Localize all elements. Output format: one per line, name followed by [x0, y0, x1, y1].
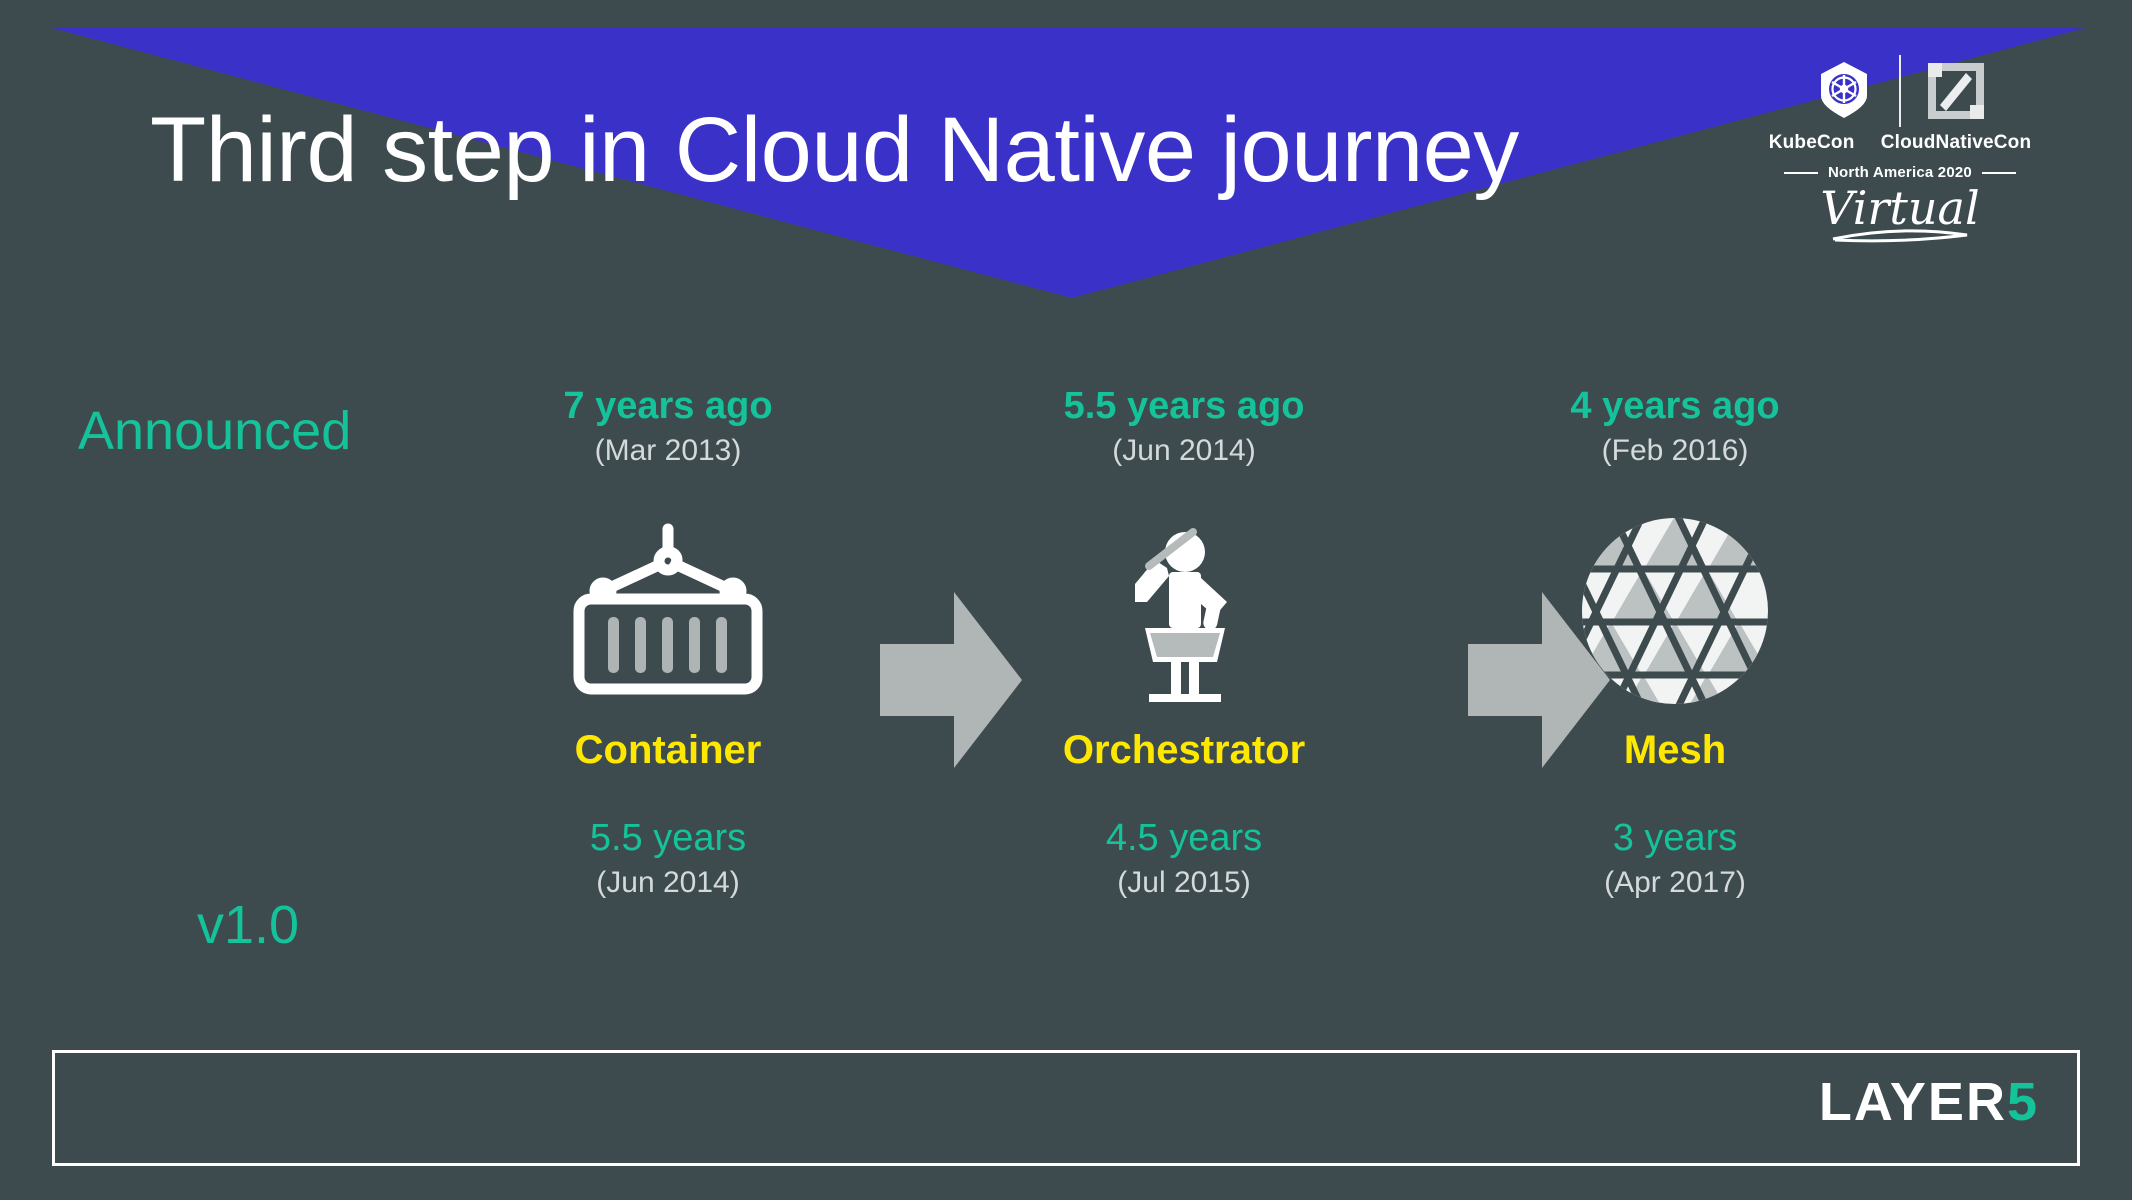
kubecon-marks-row	[1765, 52, 2035, 130]
page-title: Third step in Cloud Native journey	[150, 102, 1519, 199]
rule-right	[1982, 172, 2016, 174]
rule-left	[1784, 172, 1818, 174]
right-arrow-icon	[1468, 592, 1610, 773]
kubecon-logo-lockup: KubeCon CloudNativeCon North America 202…	[1765, 52, 2035, 250]
right-arrow-icon	[880, 592, 1022, 773]
cloudnativecon-square-icon	[1917, 61, 1995, 121]
slide-canvas: Third step in Cloud Native journey	[0, 0, 2132, 1200]
logo-divider	[1899, 55, 1901, 127]
announced-age: 7 years ago	[458, 386, 878, 428]
announced-date: (Jun 2014)	[974, 434, 1394, 468]
kubecon-name: KubeCon	[1769, 132, 1847, 154]
row-label-announced: Announced	[78, 400, 351, 462]
kubecon-region-year: North America 2020	[1828, 164, 1972, 181]
tech-name: Container	[458, 728, 878, 773]
column-orchestrator: 5.5 years ago (Jun 2014) Orches	[974, 386, 1394, 900]
release-date: (Jun 2014)	[458, 866, 878, 900]
release-date: (Jul 2015)	[974, 866, 1394, 900]
kubernetes-helm-icon	[1805, 58, 1883, 124]
kubecon-mode: Virtual	[1765, 185, 2035, 231]
announced-age: 5.5 years ago	[974, 386, 1394, 428]
swoosh-underline-icon	[1765, 227, 2035, 250]
cloudnativecon-name: CloudNativeCon	[1881, 132, 2032, 154]
orchestra-conductor-icon	[974, 516, 1394, 706]
layer5-wordmark: LAYER	[1819, 1075, 2007, 1129]
announced-age: 4 years ago	[1465, 386, 1885, 428]
release-age: 5.5 years	[458, 817, 878, 860]
kubecon-region-row: North America 2020	[1765, 164, 2035, 181]
footer-frame: LAYER 5	[52, 1050, 2080, 1166]
release-age: 4.5 years	[974, 817, 1394, 860]
layer5-logo: LAYER 5	[1819, 1075, 2039, 1129]
announced-date: (Mar 2013)	[458, 434, 878, 468]
announced-date: (Feb 2016)	[1465, 434, 1885, 468]
release-age: 3 years	[1465, 817, 1885, 860]
row-label-version: v1.0	[197, 894, 299, 956]
kubecon-names-row: KubeCon CloudNativeCon	[1765, 132, 2035, 154]
column-container: 7 years ago (Mar 2013)	[458, 386, 878, 900]
layer5-digit: 5	[2007, 1075, 2039, 1129]
tech-name: Orchestrator	[974, 728, 1394, 773]
release-date: (Apr 2017)	[1465, 866, 1885, 900]
shipping-container-icon	[458, 516, 878, 706]
